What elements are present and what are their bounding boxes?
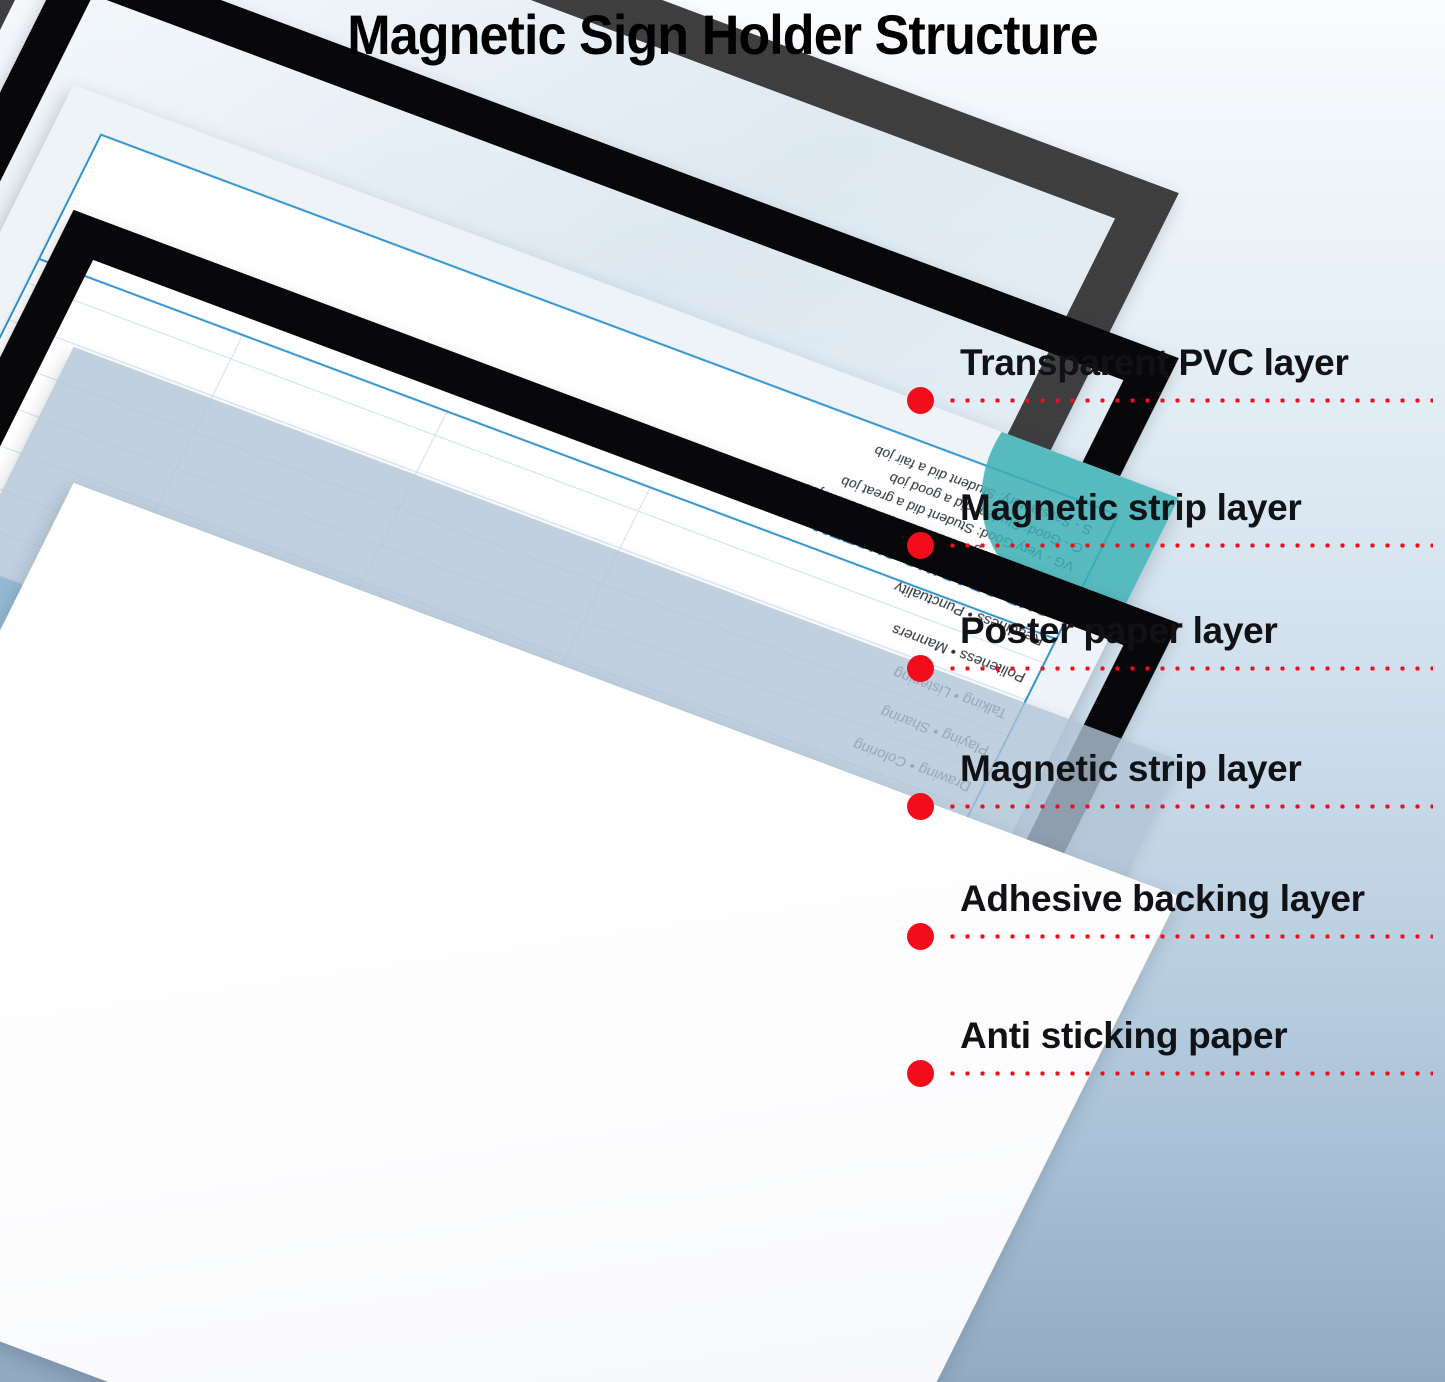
callout-label: Poster paper layer	[960, 610, 1277, 652]
callout-label: Transparent PVC layer	[960, 342, 1349, 384]
callout-leader-line	[945, 665, 1433, 672]
callout-leader-line	[945, 542, 1433, 549]
callout-label: Magnetic strip layer	[960, 487, 1302, 529]
callout-label: Anti sticking paper	[960, 1015, 1287, 1057]
diagram-canvas: Magnetic Sign Holder Structure MY LEARNI…	[0, 0, 1445, 1382]
callout-group: Transparent PVC layer Magnetic strip lay…	[0, 0, 1445, 1382]
callout-dot-icon	[907, 655, 934, 682]
callout-dot-icon	[907, 923, 934, 950]
callout-label: Magnetic strip layer	[960, 748, 1302, 790]
callout-dot-icon	[907, 793, 934, 820]
callout-dot-icon	[907, 1060, 934, 1087]
page-title: Magnetic Sign Holder Structure	[51, 2, 1395, 67]
callout-dot-icon	[907, 532, 934, 559]
callout-leader-line	[945, 397, 1433, 404]
callout-leader-line	[945, 1070, 1433, 1077]
callout-dot-icon	[907, 387, 934, 414]
callout-label: Adhesive backing layer	[960, 878, 1365, 920]
callout-leader-line	[945, 803, 1433, 810]
callout-leader-line	[945, 933, 1433, 940]
